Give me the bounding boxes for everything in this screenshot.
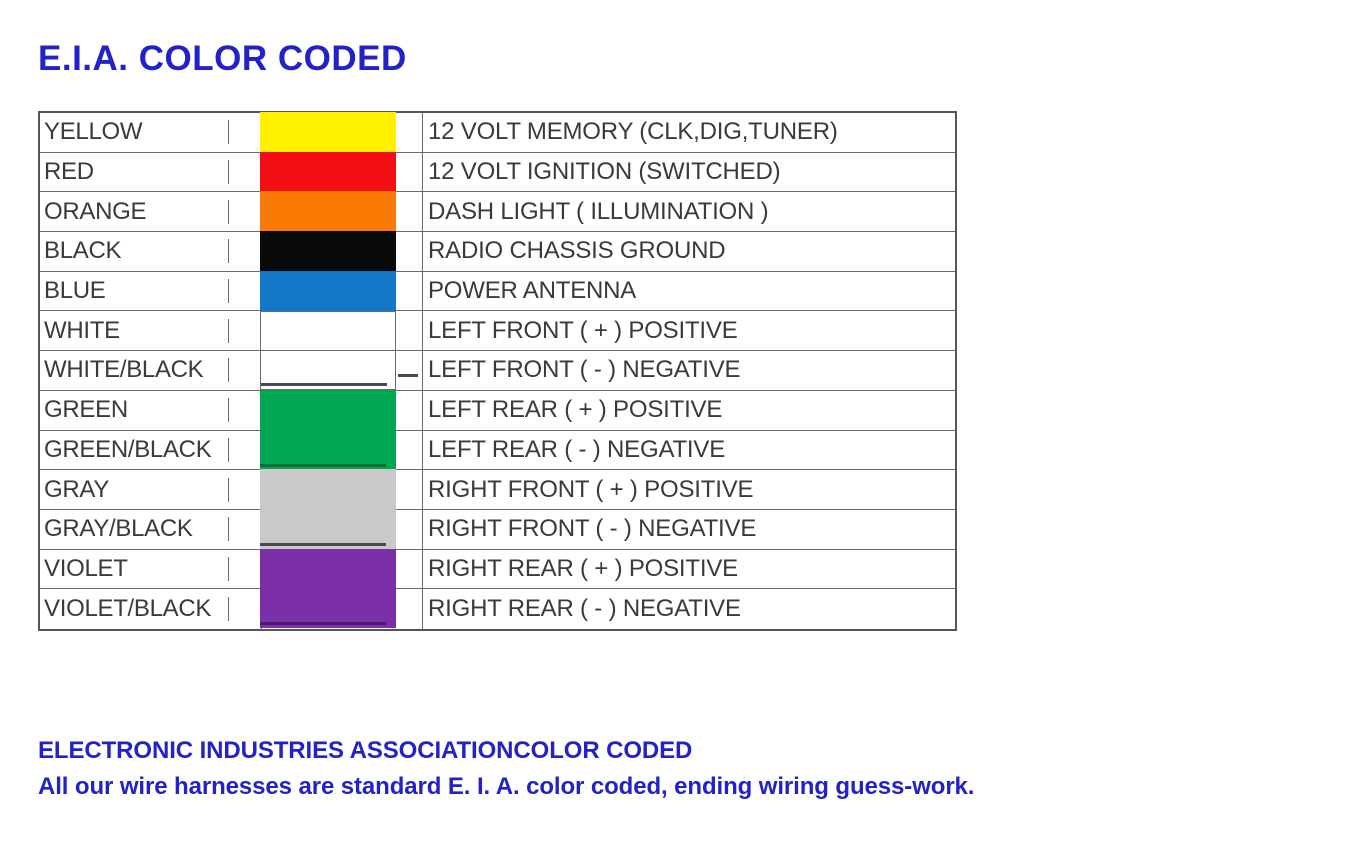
eia-color-code-table: YELLOW12 VOLT MEMORY (CLK,DIG,TUNER)RED1… <box>38 111 957 631</box>
spacer-cell-left <box>229 311 262 350</box>
swatch-cell <box>262 470 398 509</box>
table-row: GREENLEFT REAR ( + ) POSITIVE <box>40 391 955 431</box>
footer-line-2: All our wire harnesses are standard E. I… <box>38 769 974 805</box>
wire-color-name: BLUE <box>40 279 229 303</box>
swatch-cell <box>262 351 398 390</box>
spacer-cell-right <box>398 589 423 629</box>
swatch-cell <box>262 391 398 430</box>
footer-text-block: ELECTRONIC INDUSTRIES ASSOCIATIONCOLOR C… <box>38 733 974 805</box>
spacer-cell-left <box>229 351 262 390</box>
swatch-cell <box>262 510 398 549</box>
wire-function-description: 12 VOLT MEMORY (CLK,DIG,TUNER) <box>423 120 955 144</box>
spacer-cell-right <box>398 510 423 549</box>
wire-color-name: GREEN <box>40 398 229 422</box>
table-row: WHITELEFT FRONT ( + ) POSITIVE <box>40 311 955 351</box>
table-row: RED12 VOLT IGNITION (SWITCHED) <box>40 153 955 193</box>
spacer-cell-right <box>398 232 423 271</box>
spacer-cell-left <box>229 550 262 589</box>
white-black-stripe-tick <box>398 374 418 377</box>
wire-color-name: YELLOW <box>40 120 229 144</box>
wire-color-name: GREEN/BLACK <box>40 438 229 462</box>
table-row: BLUEPOWER ANTENNA <box>40 272 955 312</box>
swatch-cell <box>262 311 398 350</box>
spacer-cell-left <box>229 153 262 192</box>
wire-color-name: WHITE <box>40 319 229 343</box>
spacer-cell-right <box>398 153 423 192</box>
wire-color-name: WHITE/BLACK <box>40 358 229 382</box>
wire-function-description: RIGHT REAR ( - ) NEGATIVE <box>423 597 955 621</box>
wire-function-description: LEFT REAR ( - ) NEGATIVE <box>423 438 955 462</box>
swatch-cell <box>262 272 398 311</box>
table-row: GRAYRIGHT FRONT ( + ) POSITIVE <box>40 470 955 510</box>
swatch-cell <box>262 431 398 470</box>
wire-function-description: RIGHT REAR ( + ) POSITIVE <box>423 557 955 581</box>
wire-function-description: RIGHT FRONT ( + ) POSITIVE <box>423 478 955 502</box>
table-row: VIOLETRIGHT REAR ( + ) POSITIVE <box>40 550 955 590</box>
spacer-cell-left <box>229 470 262 509</box>
wire-color-name: VIOLET/BLACK <box>40 597 229 621</box>
wire-color-name: RED <box>40 160 229 184</box>
swatch-cell <box>262 589 398 629</box>
spacer-cell-left <box>229 232 262 271</box>
wire-color-name: BLACK <box>40 239 229 263</box>
wire-color-name: ORANGE <box>40 200 229 224</box>
spacer-cell-left <box>229 192 262 231</box>
spacer-cell-left <box>229 589 262 629</box>
wire-function-description: LEFT REAR ( + ) POSITIVE <box>423 398 955 422</box>
spacer-cell-right <box>398 351 423 390</box>
table-row: GREEN/BLACKLEFT REAR ( - ) NEGATIVE <box>40 431 955 471</box>
page-title: E.I.A. COLOR CODED <box>38 39 407 79</box>
table-row: VIOLET/BLACKRIGHT REAR ( - ) NEGATIVE <box>40 589 955 629</box>
wire-function-description: LEFT FRONT ( - ) NEGATIVE <box>423 358 955 382</box>
table-row: BLACKRADIO CHASSIS GROUND <box>40 232 955 272</box>
table-row: YELLOW12 VOLT MEMORY (CLK,DIG,TUNER) <box>40 113 955 153</box>
swatch-cell <box>262 550 398 589</box>
spacer-cell-right <box>398 470 423 509</box>
swatch-cell <box>262 232 398 271</box>
wire-function-description: LEFT FRONT ( + ) POSITIVE <box>423 319 955 343</box>
table-row: WHITE/BLACKLEFT FRONT ( - ) NEGATIVE <box>40 351 955 391</box>
swatch-cell <box>262 153 398 192</box>
swatch-cell <box>262 192 398 231</box>
spacer-cell-right <box>398 113 423 152</box>
spacer-cell-left <box>229 431 262 470</box>
wire-color-name: GRAY <box>40 478 229 502</box>
spacer-cell-right <box>398 192 423 231</box>
wire-function-description: RADIO CHASSIS GROUND <box>423 239 955 263</box>
table-row: GRAY/BLACKRIGHT FRONT ( - ) NEGATIVE <box>40 510 955 550</box>
spacer-cell-right <box>398 311 423 350</box>
wire-function-description: 12 VOLT IGNITION (SWITCHED) <box>423 160 955 184</box>
spacer-cell-right <box>398 391 423 430</box>
spacer-cell-left <box>229 272 262 311</box>
spacer-cell-left <box>229 113 262 152</box>
footer-line-1: ELECTRONIC INDUSTRIES ASSOCIATIONCOLOR C… <box>38 733 974 769</box>
wire-function-description: POWER ANTENNA <box>423 279 955 303</box>
wire-color-name: VIOLET <box>40 557 229 581</box>
wire-function-description: RIGHT FRONT ( - ) NEGATIVE <box>423 517 955 541</box>
swatch-cell <box>262 113 398 152</box>
spacer-cell-left <box>229 510 262 549</box>
table-row: ORANGEDASH LIGHT ( ILLUMINATION ) <box>40 192 955 232</box>
spacer-cell-right <box>398 550 423 589</box>
spacer-cell-right <box>398 431 423 470</box>
spacer-cell-right <box>398 272 423 311</box>
wire-color-name: GRAY/BLACK <box>40 517 229 541</box>
wire-function-description: DASH LIGHT ( ILLUMINATION ) <box>423 200 955 224</box>
spacer-cell-left <box>229 391 262 430</box>
